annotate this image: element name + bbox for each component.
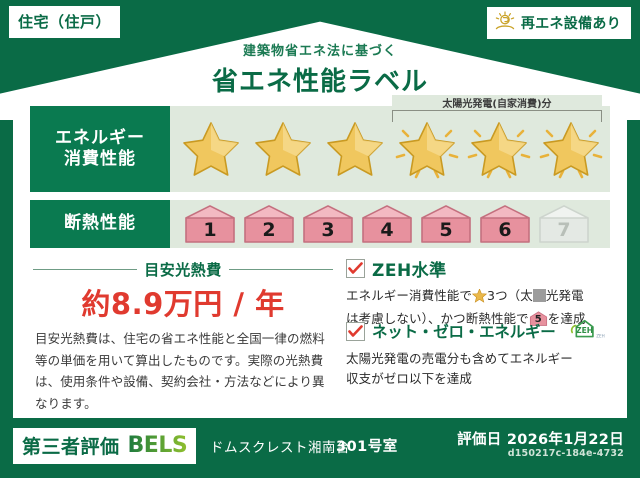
insulation-level-1: 1 [183,204,237,244]
insulation-level-value: 1 [203,219,216,244]
zeh-standard-title: ZEH水準 [372,256,447,281]
energy-star [392,114,462,184]
evaluation-id: d150217c-184e-4732 [508,448,624,459]
energy-star [176,114,246,184]
energy-performance-row: エネルギー 消費性能 太陽光発電(自家消費)分 [30,106,610,192]
zeh-body-pre: エネルギー消費性能で [346,288,472,303]
net-zero-body-line1: 太陽光発電の売電分も含めてエネルギー [346,351,573,366]
cost-amount: 約8.9万円 / 年 [33,281,333,323]
insulation-level-5: 5 [419,204,473,244]
svg-text:ZEH: ZEH [596,333,605,338]
checkbox-checked-icon [346,322,365,341]
net-zero-body: 太陽光発電の売電分も含めてエネルギー収支がゼロ以下を達成 [346,349,638,390]
checkbox-checked-icon [346,259,365,278]
renewable-equipment-badge: 再エネ設備あり [487,7,631,39]
cost-disclaimer: 目安光熱費は、住宅の省エネ性能と全国一律の燃料等の単価を用いて算出したものです。… [35,328,337,414]
solar-bracket [392,110,602,122]
energy-star [248,114,318,184]
insulation-level-value: 6 [498,219,511,244]
bels-logo-text: BELS [128,433,188,458]
sun-solar-icon [494,11,516,35]
zeh-body-mid: 3つ（太 [487,288,533,303]
energy-star-rating: 太陽光発電(自家消費)分 [170,106,610,192]
insulation-level-value: 3 [321,219,334,244]
zeh-house-logo: ZEH ZEH [566,318,606,344]
property-room: 301号室 [336,435,398,456]
cost-note-line3: 使用条件や設備、契約会社・方法などにより異なります。 [35,374,325,411]
cost-rule-left [33,269,137,270]
net-zero-energy-block: ネット・ゼロ・エネルギー ZEH ZEH 太陽光発電の売電分も含めてエネルギー収… [346,318,638,390]
net-zero-title: ネット・ゼロ・エネルギー [372,320,556,342]
net-zero-heading: ネット・ゼロ・エネルギー ZEH ZEH [346,318,638,344]
energy-label-line2: 消費性能 [64,149,136,169]
inline-star-icon [472,289,487,309]
net-zero-body-line2: 収支がゼロ以下を達成 [346,371,472,386]
insulation-performance-row: 断熱性能 1234567 [30,200,610,248]
category-tag: 住宅（住戸） [9,6,120,38]
insulation-level-3: 3 [301,204,355,244]
cost-rule-right [229,269,333,270]
insulation-level-7: 7 [537,204,591,244]
zeh-body-mid2: 光発電 [546,288,584,303]
title-subtitle: 建築物省エネ法に基づく [0,40,640,59]
energy-label-root: 住宅（住戸） 再エネ設備あり 建築物省エネ法に基づく 省エネ性能ラベル [0,0,640,478]
insulation-level-value: 7 [557,219,570,244]
cost-heading: 目安光熱費 [33,259,333,280]
redacted-character [533,289,546,302]
insulation-level-6: 6 [478,204,532,244]
insulation-performance-label: 断熱性能 [30,200,170,248]
energy-performance-label: エネルギー 消費性能 [30,106,170,192]
insulation-level-2: 2 [242,204,296,244]
insulation-level-value: 4 [380,219,393,244]
label-title: 建築物省エネ法に基づく 省エネ性能ラベル [0,40,640,98]
title-main: 省エネ性能ラベル [0,61,640,98]
insulation-level-value: 5 [439,219,452,244]
energy-star [320,114,390,184]
insulation-level-scale: 1234567 [170,200,610,248]
property-name: ドムスクレスト湘南台 [210,436,350,456]
insulation-level-value: 2 [262,219,275,244]
label-card: エネルギー 消費性能 太陽光発電(自家消費)分 断熱性能 1234567 目安光… [13,96,627,418]
cost-note-line1: 目安光熱費は、住宅の省エネ性能と全国一律の燃料 [35,331,325,346]
evaluation-date: 評価日 2026年1月22日 [457,428,624,449]
energy-star [536,114,606,184]
label-footer: 第三者評価 BELS ドムスクレスト湘南台 301号室 評価日 2026年1月2… [0,422,640,478]
cost-heading-label: 目安光熱費 [144,259,222,280]
svg-text:ZEH: ZEH [576,326,593,335]
energy-star [464,114,534,184]
renewable-badge-label: 再エネ設備あり [521,13,621,33]
zeh-standard-heading: ZEH水準 [346,256,638,281]
bels-japanese-label: 第三者評価 [22,432,120,459]
insulation-level-4: 4 [360,204,414,244]
bels-badge: 第三者評価 BELS [13,428,196,464]
energy-label-line1: エネルギー [55,128,145,148]
